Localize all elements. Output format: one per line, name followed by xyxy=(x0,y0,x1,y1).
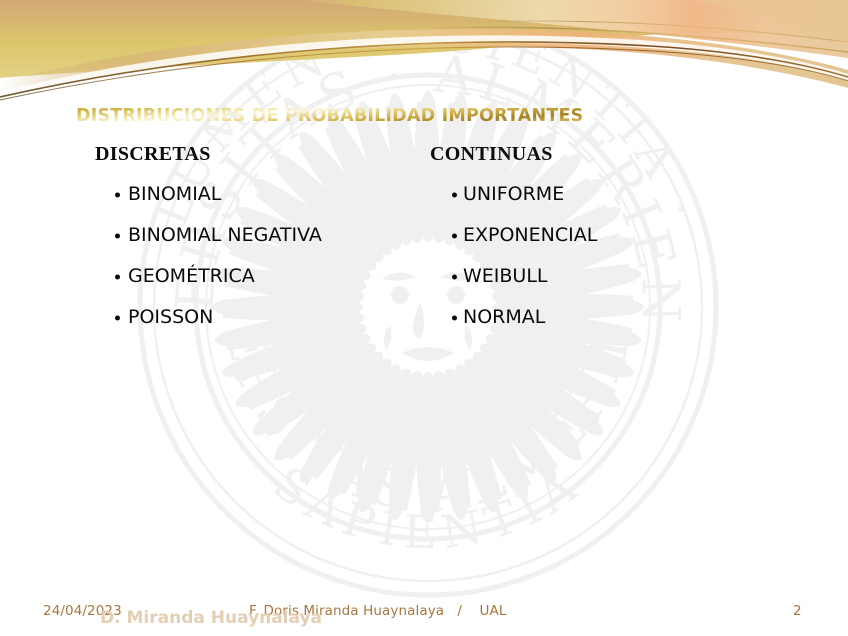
list-item: BINOMIAL xyxy=(95,174,425,215)
list-item: GEOMÉTRICA xyxy=(95,256,425,297)
svg-text:SAPIENTIA: SAPIENTIA xyxy=(264,456,592,560)
bullet-icon xyxy=(452,274,457,279)
bullet-icon xyxy=(115,233,120,238)
list-discretas: BINOMIAL BINOMIAL NEGATIVA GEOMÉTRICA PO… xyxy=(95,174,425,338)
slide: LUMEN · SCIENTIA · SAPIENTIA UNIVERSITAS… xyxy=(0,0,848,636)
bullet-icon xyxy=(452,315,457,320)
list-item-label: GEOMÉTRICA xyxy=(128,267,255,286)
bullet-icon xyxy=(115,274,120,279)
list-continuas: UNIFORME EXPONENCIAL WEIBULL NORMAL xyxy=(430,174,760,338)
list-item-label: BINOMIAL NEGATIVA xyxy=(128,226,322,245)
footer-author-watermark: D. Miranda Huaynalaya xyxy=(100,608,322,628)
page-title: DISTRIBUCIONES DE PROBABILIDAD IMPORTANT… xyxy=(76,106,583,126)
list-item-label: NORMAL xyxy=(463,308,545,327)
list-item: UNIFORME xyxy=(430,174,760,215)
list-item: NORMAL xyxy=(430,297,760,338)
bullet-icon xyxy=(452,192,457,197)
column-discretas: DISCRETAS BINOMIAL BINOMIAL NEGATIVA GEO… xyxy=(95,144,425,338)
list-item-label: POISSON xyxy=(128,308,213,327)
column-heading-discretas: DISCRETAS xyxy=(95,144,425,165)
bullet-icon xyxy=(115,315,120,320)
bullet-icon xyxy=(115,192,120,197)
footer-page-number: 2 xyxy=(793,603,802,619)
list-item: BINOMIAL NEGATIVA xyxy=(95,215,425,256)
slide-footer: D. Miranda Huaynalaya 24/04/2023 F. Dori… xyxy=(0,600,848,636)
header-decorative-swoosh xyxy=(0,0,848,105)
list-item: WEIBULL xyxy=(430,256,760,297)
list-item: POISSON xyxy=(95,297,425,338)
column-heading-continuas: CONTINUAS xyxy=(430,144,760,165)
list-item-label: BINOMIAL xyxy=(128,185,221,204)
list-item-label: EXPONENCIAL xyxy=(463,226,597,245)
list-item: EXPONENCIAL xyxy=(430,215,760,256)
list-item-label: WEIBULL xyxy=(463,267,548,286)
bullet-icon xyxy=(452,233,457,238)
column-continuas: CONTINUAS UNIFORME EXPONENCIAL WEIBULL N… xyxy=(430,144,760,338)
list-item-label: UNIFORME xyxy=(463,185,564,204)
